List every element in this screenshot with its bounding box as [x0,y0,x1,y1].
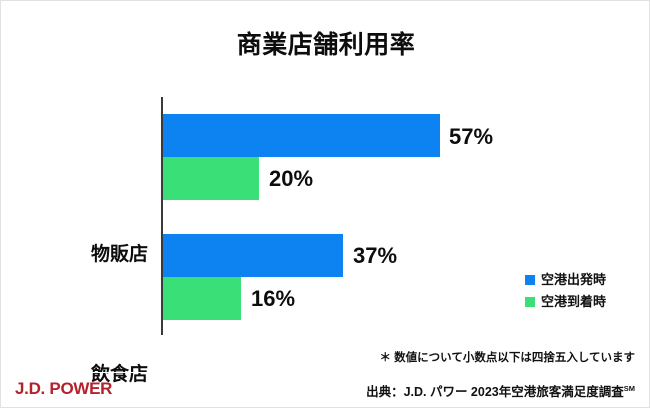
legend: 空港出発時 空港到着時 [525,273,645,317]
category-label-bussanten: 物販店 [16,245,161,264]
service-mark: SM [624,384,635,393]
bar-inshokuten-arrival [163,277,241,320]
page-title: 商業店舗利用率 [1,25,650,61]
legend-swatch-green-icon [525,297,535,307]
legend-label-arrival: 空港到着時 [541,295,606,308]
bar-bussanten-departure [163,114,440,157]
legend-item-departure: 空港出発時 [525,273,645,286]
footnote: ＊ 数値について小数点以下は四捨五入しています [379,349,635,365]
source-citation: 出典：J.D. パワー 2023年空港旅客満足度調査SM [366,381,635,400]
bar-value-bussanten-arrival: 20% [269,168,313,190]
chart-slide: 商業店舗利用率 物販店 飲食店 57% 20% 37% 16% 空港出発時 空港… [0,0,650,408]
footer-divider [1,372,650,373]
plot-area: 57% 20% 37% 16% [161,97,561,335]
category-axis-labels: 物販店 飲食店 [1,97,161,335]
legend-swatch-blue-icon [525,275,535,285]
bar-inshokuten-departure [163,234,343,277]
bar-bussanten-arrival [163,157,259,200]
bar-value-bussanten-departure: 57% [449,126,493,148]
bar-value-inshokuten-arrival: 16% [251,288,295,310]
legend-label-departure: 空港出発時 [541,273,606,286]
jd-power-logo: J.D. POWER [15,379,112,399]
bar-value-inshokuten-departure: 37% [353,245,397,267]
source-text: 出典：J.D. パワー 2023年空港旅客満足度調査 [366,385,624,399]
legend-item-arrival: 空港到着時 [525,295,645,308]
